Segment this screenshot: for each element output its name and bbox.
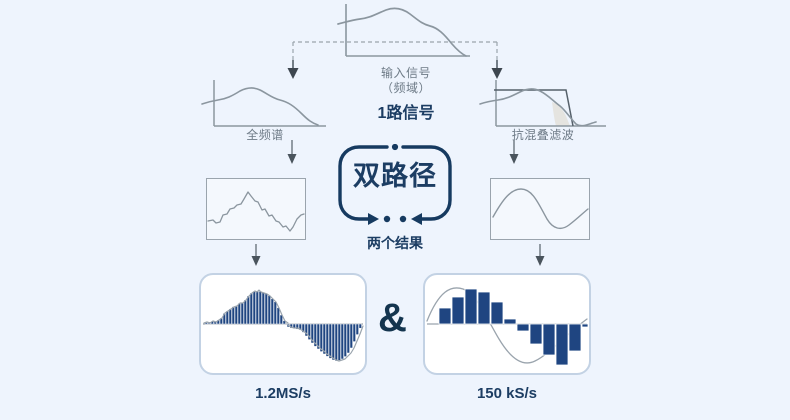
left-down-arrow-upper (282, 140, 302, 168)
left-down-arrow-lower (246, 244, 266, 270)
right-down-arrow-lower (530, 244, 550, 270)
two-results-label: 两个结果 (337, 233, 453, 253)
low-rate-label: 150 kS/s (423, 385, 591, 402)
sine-waveform-box (490, 178, 590, 240)
dual-path-badge: 双路径 (337, 144, 453, 230)
low-rate-result-card (423, 273, 591, 375)
high-rate-result-card (199, 273, 367, 375)
full-spectrum-caption: 全频谱 (200, 128, 330, 143)
high-rate-label: 1.2MS/s (199, 385, 367, 402)
anti-alias-filter-caption: 抗混叠滤波 (478, 128, 608, 143)
anti-alias-filter-chart (478, 78, 608, 134)
diagram-canvas: 输入信号 （频域） 1路信号 全频谱 (0, 0, 790, 420)
right-down-arrow-upper (504, 140, 524, 168)
noisy-waveform (207, 179, 305, 239)
one-channel-emphasis: 1路信号 (336, 99, 476, 123)
high-rate-bar-chart (201, 275, 365, 373)
dual-path-label: 双路径 (337, 156, 453, 196)
noisy-waveform-box (206, 178, 306, 240)
low-rate-bar-chart (425, 275, 589, 373)
sine-waveform (491, 179, 589, 239)
full-spectrum-chart (200, 78, 330, 134)
ampersand-separator: & (378, 298, 407, 338)
